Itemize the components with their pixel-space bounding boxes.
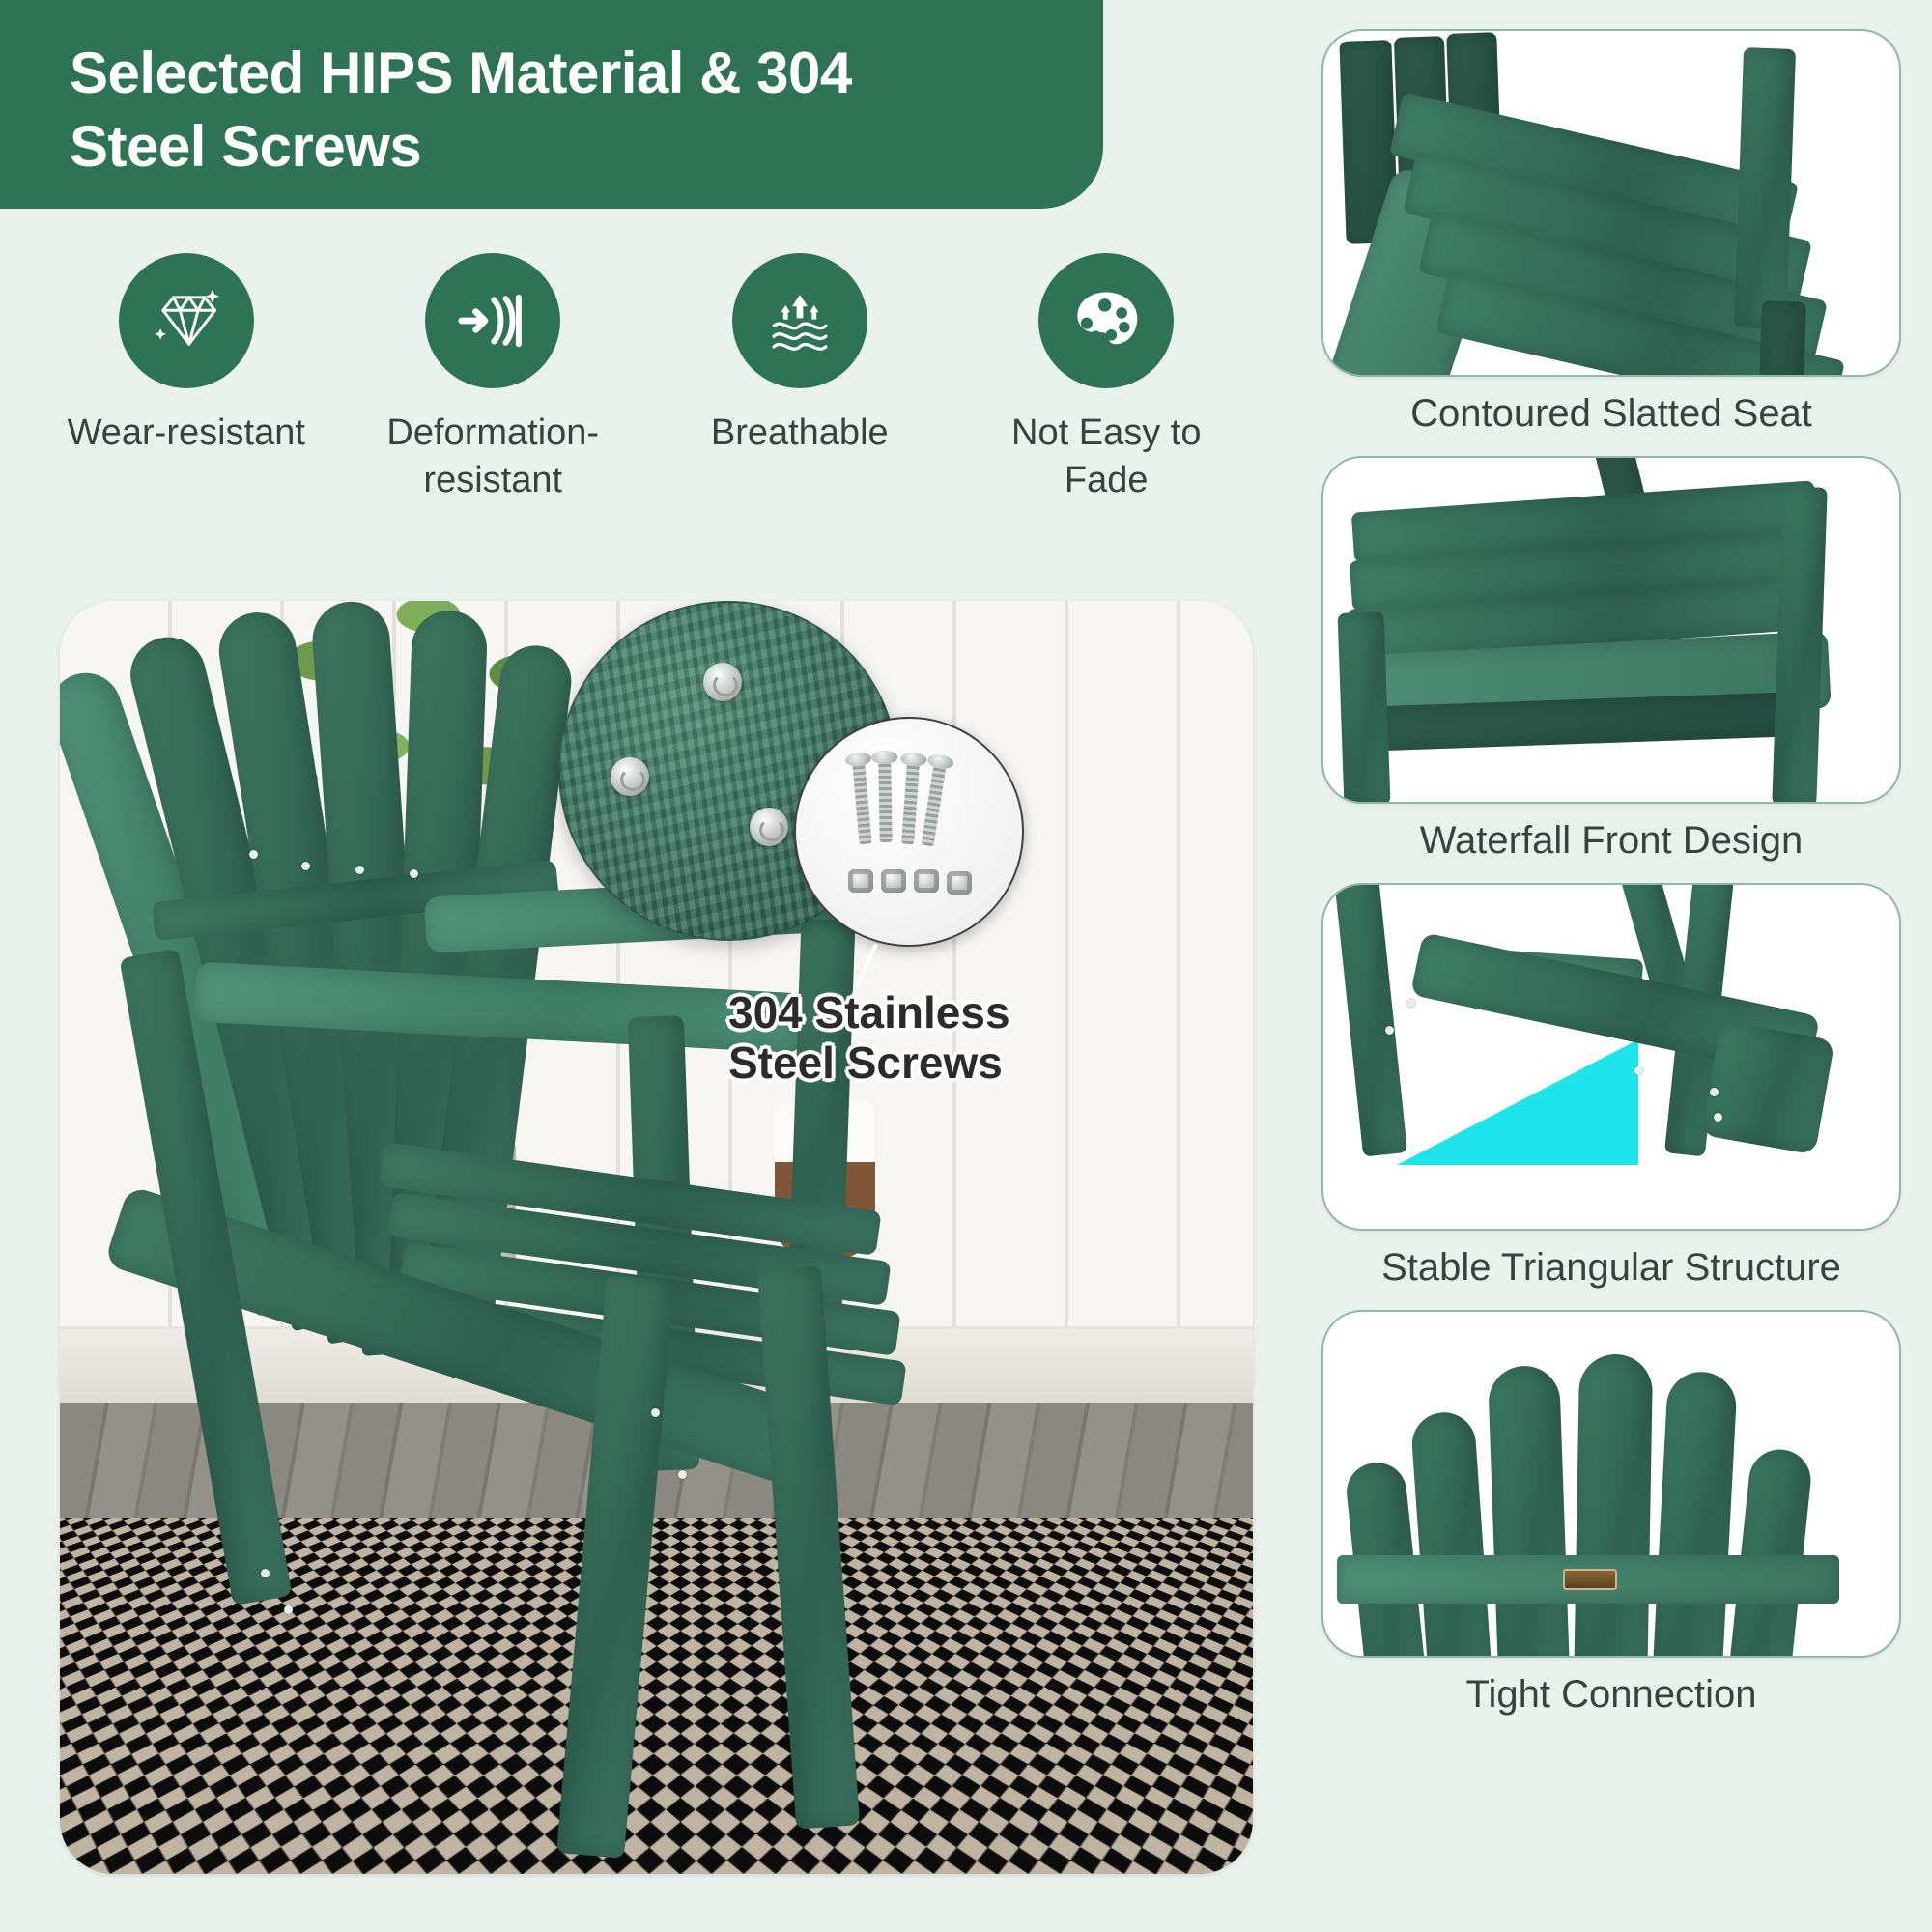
magnified-screw-head — [750, 808, 788, 846]
detail-image — [1321, 883, 1901, 1231]
magnified-screw-head — [611, 757, 649, 796]
screws-inset-circle — [794, 717, 1024, 947]
nut — [947, 871, 972, 895]
screw — [852, 763, 871, 845]
magnified-screw-head — [703, 663, 742, 701]
detail-caption: Contoured Slatted Seat — [1321, 390, 1901, 437]
breathable-icon — [732, 253, 867, 388]
screw-head — [249, 850, 258, 859]
screw — [901, 763, 920, 845]
page-title: Selected HIPS Material & 304 Steel Screw… — [70, 37, 1065, 184]
screw-head — [301, 862, 310, 870]
feature-label: Deformation- resistant — [386, 410, 599, 503]
header-banner: Selected HIPS Material & 304 Steel Screw… — [0, 0, 1103, 209]
detail-image — [1321, 456, 1901, 804]
detail-panel-list: Contoured Slatted Seat Waterfall Front D… — [1321, 29, 1901, 1737]
callout-label: 304 Stainless Steel Screws — [728, 987, 1134, 1089]
screw-head — [410, 869, 418, 878]
nut — [848, 869, 873, 893]
screw-head — [355, 866, 364, 874]
screw-head — [651, 1408, 660, 1417]
detail-panel-waterfall-front-design: Waterfall Front Design — [1321, 456, 1901, 864]
deformation-icon — [425, 253, 560, 388]
screw — [878, 761, 892, 842]
feature-item-not-easy-to-fade: Not Easy to Fade — [953, 253, 1261, 503]
detail-caption: Stable Triangular Structure — [1321, 1244, 1901, 1291]
detail-caption: Tight Connection — [1321, 1671, 1901, 1718]
triangular-structure-highlight — [1397, 1039, 1638, 1165]
detail-panel-contoured-slatted-seat: Contoured Slatted Seat — [1321, 29, 1901, 437]
main-product-photo: 304 Stainless Steel Screws — [60, 601, 1253, 1874]
nut — [914, 869, 939, 893]
feature-label: Breathable — [711, 410, 889, 457]
feature-label: Wear-resistant — [68, 410, 305, 457]
nut — [881, 869, 906, 893]
screw-head — [678, 1470, 687, 1479]
feature-item-wear-resistant: Wear-resistant — [33, 253, 340, 503]
feature-label: Not Easy to Fade — [1011, 410, 1201, 503]
feature-list: Wear-resistant Deformation- resistant — [33, 253, 1260, 503]
brand-nameplate — [1563, 1569, 1617, 1590]
detail-panel-stable-triangular-structure: Stable Triangular Structure — [1321, 883, 1901, 1291]
feature-item-deformation-resistant: Deformation- resistant — [340, 253, 647, 503]
screw-head — [284, 1605, 293, 1614]
detail-caption: Waterfall Front Design — [1321, 817, 1901, 864]
detail-image — [1321, 29, 1901, 377]
diamond-icon — [119, 253, 254, 388]
detail-panel-tight-connection: Tight Connection — [1321, 1310, 1901, 1718]
palette-icon — [1038, 253, 1174, 388]
feature-item-breathable: Breathable — [646, 253, 953, 503]
detail-image — [1321, 1310, 1901, 1658]
screw — [922, 765, 947, 847]
screw-head — [261, 1569, 270, 1577]
